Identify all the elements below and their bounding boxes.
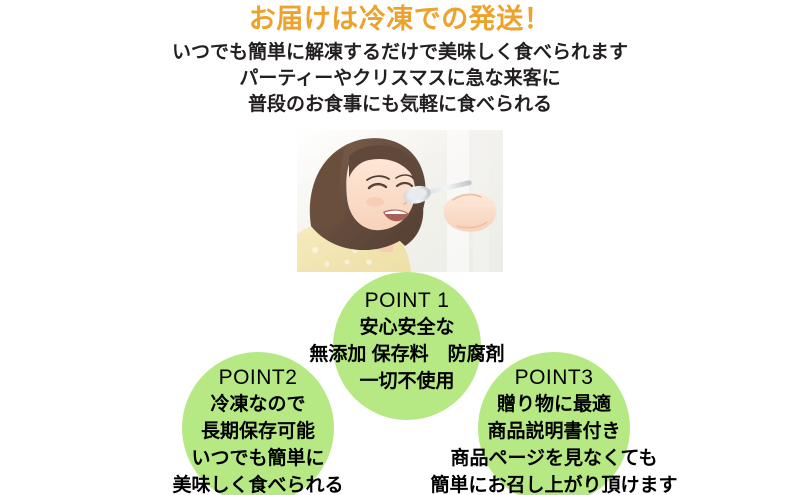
page-title: お届けは冷凍での発送！ — [0, 4, 800, 35]
point-circle-1: POINT 1 安心安全な 無添加 保存料 防腐剤 一切不使用 — [333, 272, 481, 420]
promo-banner: お届けは冷凍での発送！ いつでも簡単に解凍するだけで美味しく食べられます パーテ… — [0, 0, 800, 495]
point-1-line-1: 安心安全な — [227, 314, 587, 341]
point-1-title: POINT 1 — [227, 288, 587, 314]
subtitle-block: いつでも簡単に解凍するだけで美味しく食べられます パーティーやクリスマスに急な来… — [0, 40, 800, 118]
subtitle-line-3: 普段のお食事にも気軽に食べられる — [0, 92, 800, 118]
point-3-line-4: 簡単にお召し上がり頂けます — [344, 472, 764, 495]
lifestyle-photo — [297, 130, 503, 272]
point-1-line-2: 無添加 保存料 防腐剤 — [227, 341, 587, 368]
point-1-line-3: 一切不使用 — [227, 368, 587, 395]
point-1-content: POINT 1 安心安全な 無添加 保存料 防腐剤 一切不使用 — [227, 288, 587, 395]
point-3-line-3: 商品ページを見なくても — [344, 445, 764, 472]
subtitle-line-1: いつでも簡単に解凍するだけで美味しく食べられます — [0, 40, 800, 66]
point-3-line-2: 商品説明書付き — [344, 418, 764, 445]
subtitle-line-2: パーティーやクリスマスに急な来客に — [0, 66, 800, 92]
woman-eating-illustration — [297, 130, 503, 272]
